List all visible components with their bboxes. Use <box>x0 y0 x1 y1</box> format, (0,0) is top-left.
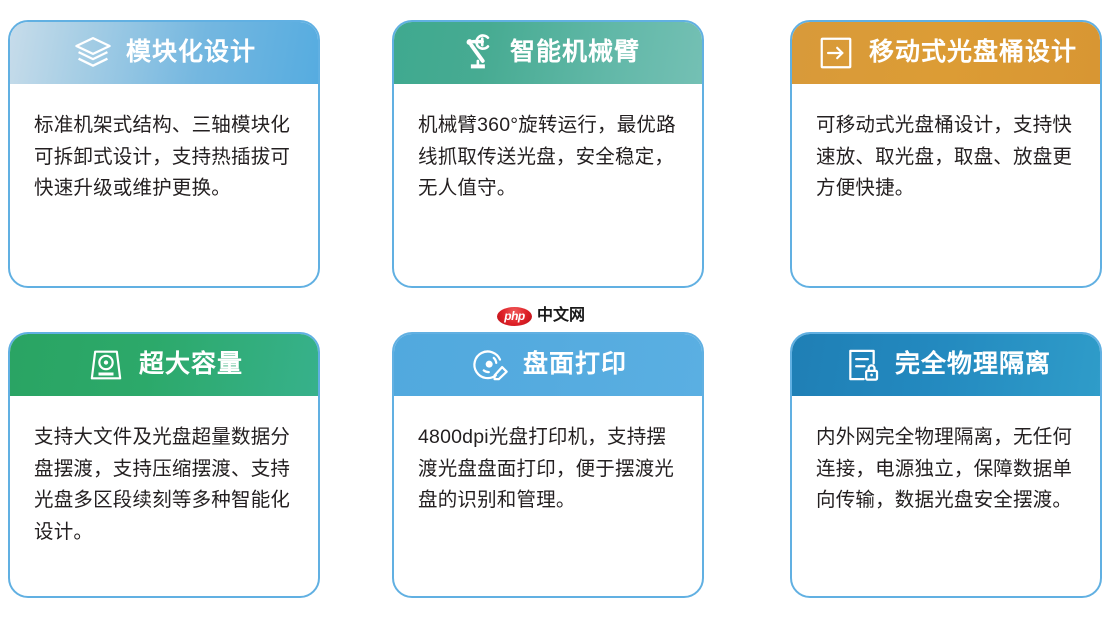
card-body: 内外网完全物理隔离，无任何连接，电源独立，保障数据单向传输，数据光盘安全摆渡。 <box>792 396 1100 527</box>
disc-pen-icon <box>469 344 511 386</box>
card-body: 4800dpi光盘打印机，支持摆渡光盘盘面打印，便于摆渡光盘的识别和管理。 <box>394 396 702 527</box>
feature-card-movable-disc-bucket[interactable]: 移动式光盘桶设计 可移动式光盘桶设计，支持快速放、取光盘，取盘、放盘更方便快捷。 <box>790 20 1102 288</box>
card-header: 完全物理隔离 <box>792 334 1100 396</box>
card-body: 机械臂360°旋转运行，最优路线抓取传送光盘，安全稳定，无人值守。 <box>394 84 702 215</box>
card-title: 完全物理隔离 <box>895 352 1051 379</box>
card-header: 模块化设计 <box>10 22 318 84</box>
card-body-text: 4800dpi光盘打印机，支持摆渡光盘盘面打印，便于摆渡光盘的识别和管理。 <box>418 422 678 517</box>
php-logo-icon: php <box>497 307 532 326</box>
layers-icon <box>72 32 114 74</box>
feature-card-physical-isolation[interactable]: 完全物理隔离 内外网完全物理隔离，无任何连接，电源独立，保障数据单向传输，数据光… <box>790 332 1102 598</box>
feature-card-disc-surface-printing[interactable]: 盘面打印 4800dpi光盘打印机，支持摆渡光盘盘面打印，便于摆渡光盘的识别和管… <box>392 332 704 598</box>
card-title: 盘面打印 <box>523 352 627 379</box>
robot-arm-icon <box>456 32 498 74</box>
card-title: 智能机械臂 <box>510 40 640 67</box>
watermark: php 中文网 <box>497 305 617 327</box>
card-body: 可移动式光盘桶设计，支持快速放、取光盘，取盘、放盘更方便快捷。 <box>792 84 1100 215</box>
feature-card-smart-robot-arm[interactable]: 智能机械臂 机械臂360°旋转运行，最优路线抓取传送光盘，安全稳定，无人值守。 <box>392 20 704 288</box>
card-header: 智能机械臂 <box>394 22 702 84</box>
card-title: 移动式光盘桶设计 <box>869 40 1077 67</box>
feature-card-modular-design[interactable]: 模块化设计 标准机架式结构、三轴模块化可拆卸式设计，支持热插拔可快速升级或维护更… <box>8 20 320 288</box>
card-body: 支持大文件及光盘超量数据分盘摆渡，支持压缩摆渡、支持光盘多区段续刻等多种智能化设… <box>10 396 318 558</box>
card-body-text: 支持大文件及光盘超量数据分盘摆渡，支持压缩摆渡、支持光盘多区段续刻等多种智能化设… <box>34 422 294 548</box>
card-title: 超大容量 <box>139 352 243 379</box>
card-body-text: 机械臂360°旋转运行，最优路线抓取传送光盘，安全稳定，无人值守。 <box>418 110 678 205</box>
feature-card-large-capacity[interactable]: 超大容量 支持大文件及光盘超量数据分盘摆渡，支持压缩摆渡、支持光盘多区段续刻等多… <box>8 332 320 598</box>
card-body: 标准机架式结构、三轴模块化可拆卸式设计，支持热插拔可快速升级或维护更换。 <box>10 84 318 215</box>
card-body-text: 标准机架式结构、三轴模块化可拆卸式设计，支持热插拔可快速升级或维护更换。 <box>34 110 294 205</box>
document-lock-icon <box>841 344 883 386</box>
disc-drive-icon <box>85 344 127 386</box>
watermark-label: 中文网 <box>537 308 585 324</box>
feature-card-grid: 模块化设计 标准机架式结构、三轴模块化可拆卸式设计，支持热插拔可快速升级或维护更… <box>0 0 1110 635</box>
arrow-in-box-icon <box>815 32 857 74</box>
card-header: 移动式光盘桶设计 <box>792 22 1100 84</box>
card-title: 模块化设计 <box>126 40 256 67</box>
card-header: 超大容量 <box>10 334 318 396</box>
card-body-text: 可移动式光盘桶设计，支持快速放、取光盘，取盘、放盘更方便快捷。 <box>816 110 1076 205</box>
card-body-text: 内外网完全物理隔离，无任何连接，电源独立，保障数据单向传输，数据光盘安全摆渡。 <box>816 422 1076 517</box>
card-header: 盘面打印 <box>394 334 702 396</box>
